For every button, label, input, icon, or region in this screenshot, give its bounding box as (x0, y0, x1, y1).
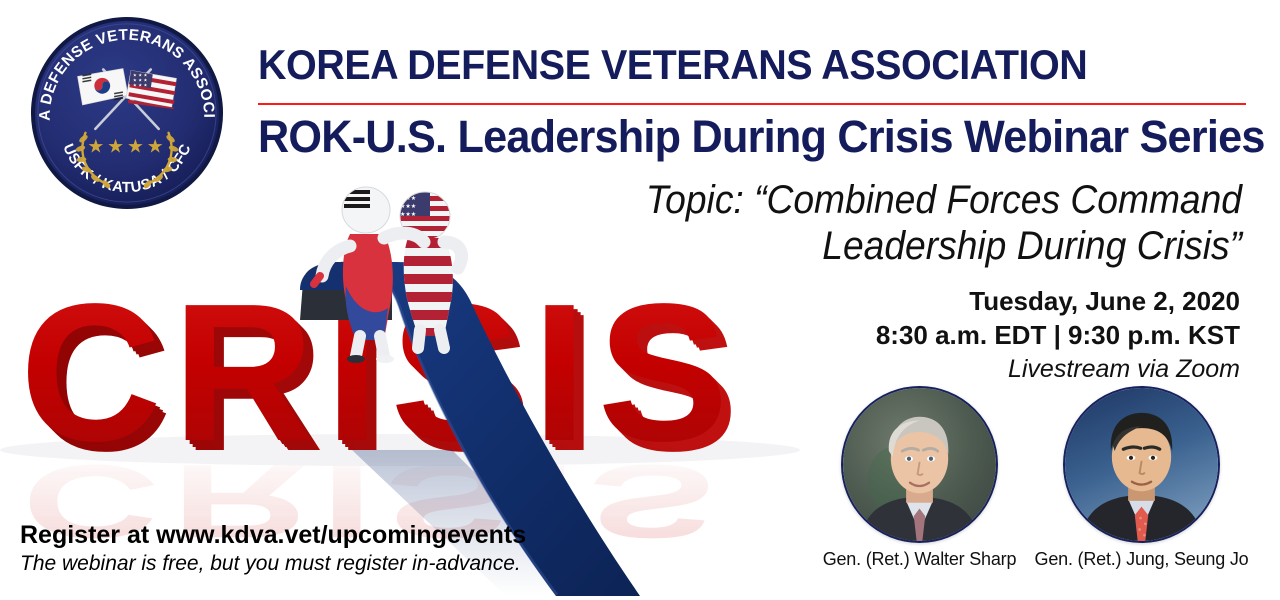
portrait-jung-seung-jo-icon (1065, 388, 1218, 541)
avatar-walter-sharp (841, 386, 998, 543)
svg-text:★★★: ★★★ (400, 211, 416, 218)
avatar-jung-seung-jo (1063, 386, 1220, 543)
registration-block: Register at www.kdva.vet/upcomingevents … (20, 521, 526, 576)
flyer-canvas: KOREA DEFENSE VETERANS ASSOCIATION USFK … (0, 0, 1280, 600)
svg-text:★ ★ ★: ★ ★ ★ (133, 82, 148, 88)
red-divider-rule (258, 103, 1246, 105)
registration-url[interactable]: Register at www.kdva.vet/upcomingevents (20, 521, 526, 551)
speaker-name-2: Gen. (Ret.) Jung, Seung Jo (1034, 549, 1249, 570)
speakers-block: Gen. (Ret.) Walter Sharp (812, 386, 1272, 596)
association-name: KOREA DEFENSE VETERANS ASSOCIATION (258, 44, 1189, 86)
speaker-card-1: Gen. (Ret.) Walter Sharp (812, 386, 1027, 570)
registration-note: The webinar is free, but you must regist… (20, 551, 526, 576)
speaker-card-2: Gen. (Ret.) Jung, Seung Jo (1034, 386, 1249, 570)
portrait-walter-sharp-icon (843, 388, 996, 541)
speaker-name-1: Gen. (Ret.) Walter Sharp (812, 549, 1027, 570)
